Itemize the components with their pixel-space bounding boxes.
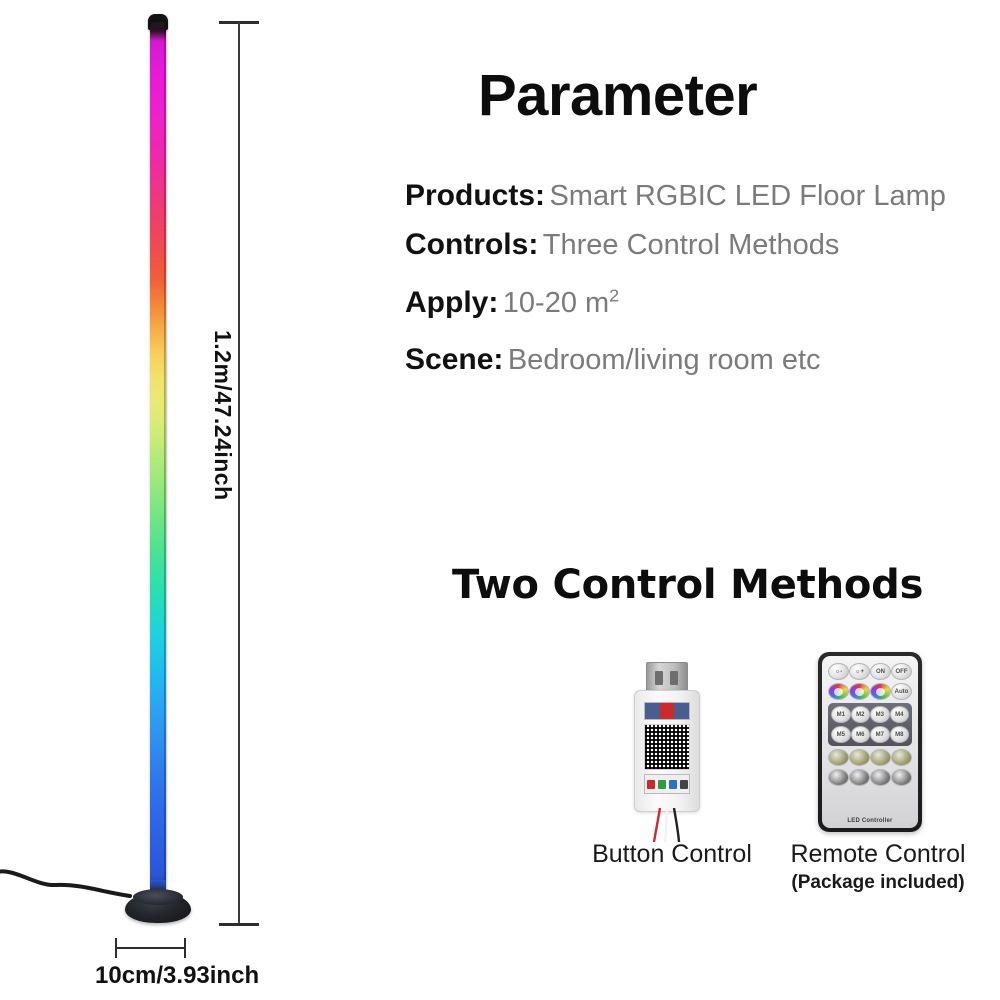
controller-wires: [652, 808, 682, 842]
remote-button-mode-1[interactable]: [828, 769, 849, 786]
remote-button-m4[interactable]: M4: [890, 706, 910, 723]
label-seg-1: [645, 703, 660, 719]
spec-key-products: Products:: [405, 179, 545, 212]
infographic-canvas: 1.2m/47.24inch 10cm/3.93inch Parameter P…: [0, 0, 1000, 1000]
height-dimension-line: [238, 22, 240, 925]
caption-button-control: Button Control: [577, 840, 767, 869]
remote-button-speed-2[interactable]: [849, 749, 870, 766]
remote-footer-label: LED Controller: [828, 818, 912, 824]
remote-row-memory-1: M1 M2 M3 M4: [831, 706, 909, 723]
lamp-base-top: [133, 889, 183, 905]
remote-button-m5[interactable]: M5: [831, 726, 851, 743]
lamp-tube-shading: [164, 24, 168, 894]
remote-row-speed: [828, 749, 912, 766]
spec-key-scene: Scene:: [405, 343, 503, 376]
remote-button-off[interactable]: OFF: [891, 663, 912, 680]
remote-button-speed-4[interactable]: [891, 749, 912, 766]
remote-button-m7[interactable]: M7: [870, 726, 890, 743]
controller-button-dark[interactable]: [680, 780, 688, 789]
width-dimension-tick-right: [184, 938, 186, 958]
remote-row-mode: [828, 769, 912, 786]
caption-remote-control: Remote Control: [778, 840, 978, 869]
remote-button-m1[interactable]: M1: [831, 706, 851, 723]
spec-value-controls: Three Control Methods: [543, 229, 840, 261]
remote-faceplate: ☼- ☼+ ON OFF Auto M1 M2 M3 M4 M5: [822, 656, 918, 828]
spec-row-controls: Controls: Three Control Methods: [405, 227, 985, 262]
spec-value-scene: Bedroom/living room etc: [508, 344, 821, 376]
label-seg-2: [660, 703, 675, 719]
qr-code-icon: [644, 724, 690, 770]
remote-row-memory-2: M5 M6 M7 M8: [831, 726, 909, 743]
remote-button-m3[interactable]: M3: [870, 706, 890, 723]
remote-button-m6[interactable]: M6: [851, 726, 871, 743]
height-dimension-label: 1.2m/47.24inch: [209, 330, 236, 501]
remote-button-auto[interactable]: Auto: [891, 683, 912, 700]
spec-row-products: Products: Smart RGBIC LED Floor Lamp: [405, 178, 985, 213]
controller-button-row: [644, 774, 690, 794]
width-dimension-label: 10cm/3.93inch: [95, 962, 259, 990]
spec-key-controls: Controls:: [405, 228, 538, 261]
parameter-spec-list: Products: Smart RGBIC LED Floor Lamp Con…: [405, 178, 985, 382]
controller-button-blue[interactable]: [669, 780, 677, 789]
controller-button-red[interactable]: [647, 780, 655, 789]
spec-key-apply: Apply:: [405, 286, 498, 319]
usb-slot-right: [670, 671, 678, 685]
remote-button-brightness-up[interactable]: ☼+: [849, 663, 870, 680]
remote-button-mode-3[interactable]: [870, 769, 891, 786]
spec-row-scene: Scene: Bedroom/living room etc: [405, 342, 985, 377]
spec-row-apply: Apply: 10-20 m2: [405, 285, 985, 320]
usb-button-controller-image: [612, 662, 722, 842]
remote-button-m8[interactable]: M8: [890, 726, 910, 743]
methods-title: Two Control Methods: [452, 562, 923, 608]
remote-button-color-green[interactable]: [849, 683, 870, 700]
parameter-title: Parameter: [478, 62, 757, 129]
remote-button-mode-4[interactable]: [891, 769, 912, 786]
usb-slot-left: [655, 671, 663, 685]
remote-button-color-red[interactable]: [828, 683, 849, 700]
caption-remote-package-note: (Package included): [778, 872, 978, 894]
controller-label-strip: [644, 702, 690, 720]
spec-value-apply-superscript: 2: [609, 285, 619, 305]
remote-button-speed-1[interactable]: [828, 749, 849, 766]
controller-button-green[interactable]: [658, 780, 666, 789]
remote-memory-group: M1 M2 M3 M4 M5 M6 M7 M8: [828, 703, 912, 746]
lamp-illustration: 1.2m/47.24inch 10cm/3.93inch: [0, 0, 300, 1000]
remote-button-m2[interactable]: M2: [851, 706, 871, 723]
remote-button-mode-2[interactable]: [849, 769, 870, 786]
remote-button-brightness-down[interactable]: ☼-: [828, 663, 849, 680]
spec-value-apply: 10-20 m: [503, 287, 609, 319]
remote-button-color-blue[interactable]: [870, 683, 891, 700]
width-dimension-line: [116, 947, 186, 949]
remote-button-speed-3[interactable]: [870, 749, 891, 766]
power-cable: [0, 852, 140, 904]
height-dimension-tick-bottom: [219, 923, 259, 926]
spec-value-products: Smart RGBIC LED Floor Lamp: [549, 180, 945, 212]
remote-row-power: ☼- ☼+ ON OFF: [828, 663, 912, 680]
label-seg-3: [674, 703, 689, 719]
remote-row-colors: Auto: [828, 683, 912, 700]
remote-button-on[interactable]: ON: [870, 663, 891, 680]
ir-remote-image: ☼- ☼+ ON OFF Auto M1 M2 M3 M4 M5: [818, 652, 922, 832]
